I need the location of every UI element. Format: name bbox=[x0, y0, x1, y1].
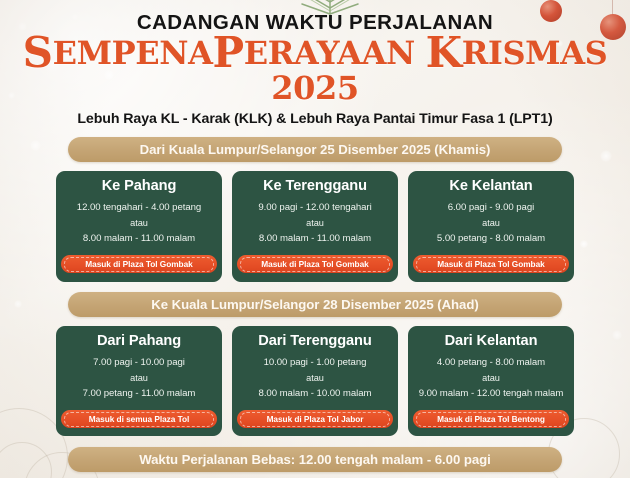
bokeh-dot bbox=[14, 300, 22, 308]
card-times: 4.00 petang - 8.00 malam atau 9.00 malam… bbox=[419, 355, 564, 401]
time-slot-1: 7.00 pagi - 10.00 pagi bbox=[83, 355, 196, 371]
time-slot-2: 5.00 petang - 8.00 malam bbox=[437, 231, 545, 247]
highway-subtitle: Lebuh Raya KL - Karak (KLK) & Lebuh Raya… bbox=[0, 111, 630, 127]
card-times: 12.00 tengahari - 4.00 petang atau 8.00 … bbox=[77, 200, 201, 246]
card-title: Dari Terengganu bbox=[258, 333, 371, 349]
page-title: CADANGAN WAKTU PERJALANAN bbox=[0, 0, 630, 35]
section-banner-outbound: Dari Kuala Lumpur/Selangor 25 Disember 2… bbox=[68, 137, 562, 162]
time-slot-2: 8.00 malam - 10.00 malam bbox=[259, 386, 372, 402]
time-slot-1: 4.00 petang - 8.00 malam bbox=[419, 355, 564, 371]
card-times: 9.00 pagi - 12.00 tengahari atau 8.00 ma… bbox=[258, 200, 371, 246]
toll-plaza-badge: Masuk di Plaza Tol Bentong bbox=[413, 410, 569, 428]
card-title: Dari Kelantan bbox=[445, 333, 538, 349]
card-row-outbound: Ke Pahang 12.00 tengahari - 4.00 petang … bbox=[56, 171, 574, 282]
time-slot-2: 9.00 malam - 12.00 tengah malam bbox=[419, 386, 564, 402]
time-slot-2: 8.00 malam - 11.00 malam bbox=[77, 231, 201, 247]
script-cap-p: P bbox=[213, 28, 244, 77]
time-slot-2: 7.00 petang - 11.00 malam bbox=[83, 386, 196, 402]
time-separator: atau bbox=[419, 371, 564, 386]
toll-plaza-label: Masuk di Plaza Tol Gombak bbox=[437, 259, 544, 269]
time-separator: atau bbox=[258, 216, 371, 231]
toll-plaza-badge: Masuk di Plaza Tol Gombak bbox=[61, 255, 217, 273]
poster-header: CADANGAN WAKTU PERJALANAN SEMPENAPERAYAA… bbox=[0, 0, 630, 127]
time-separator: atau bbox=[83, 371, 196, 386]
page-subtitle-script: SEMPENAPERAYAAN KRISMAS 2025 bbox=[0, 36, 630, 105]
bokeh-dot bbox=[580, 240, 588, 248]
toll-plaza-badge: Masuk di semua Plaza Tol bbox=[61, 410, 217, 428]
bokeh-dot bbox=[612, 330, 622, 340]
script-word-perayaan: ERAYAAN bbox=[244, 34, 415, 72]
faint-circle-decoration bbox=[0, 442, 52, 478]
card-times: 10.00 pagi - 1.00 petang atau 8.00 malam… bbox=[259, 355, 372, 401]
time-slot-1: 12.00 tengahari - 4.00 petang bbox=[77, 200, 201, 216]
toll-plaza-badge: Masuk di Plaza Tol Jabor bbox=[237, 410, 393, 428]
time-slot-1: 10.00 pagi - 1.00 petang bbox=[259, 355, 372, 371]
toll-plaza-label: Masuk di Plaza Tol Gombak bbox=[85, 259, 192, 269]
time-slot-1: 6.00 pagi - 9.00 pagi bbox=[437, 200, 545, 216]
bokeh-dot bbox=[600, 150, 612, 162]
time-separator: atau bbox=[77, 216, 201, 231]
time-slot-2: 8.00 malam - 11.00 malam bbox=[258, 231, 371, 247]
card-title: Ke Pahang bbox=[102, 178, 177, 194]
toll-plaza-label: Masuk di semua Plaza Tol bbox=[89, 414, 190, 424]
time-slot-1: 9.00 pagi - 12.00 tengahari bbox=[258, 200, 371, 216]
card-title: Dari Pahang bbox=[97, 333, 181, 349]
card-times: 7.00 pagi - 10.00 pagi atau 7.00 petang … bbox=[83, 355, 196, 401]
section-banner-return: Ke Kuala Lumpur/Selangor 28 Disember 202… bbox=[68, 292, 562, 317]
toll-plaza-label: Masuk di Plaza Tol Gombak bbox=[261, 259, 368, 269]
destination-card: Ke Kelantan 6.00 pagi - 9.00 pagi atau 5… bbox=[408, 171, 574, 282]
toll-plaza-badge: Masuk di Plaza Tol Gombak bbox=[413, 255, 569, 273]
card-times: 6.00 pagi - 9.00 pagi atau 5.00 petang -… bbox=[437, 200, 545, 246]
toll-plaza-label: Masuk di Plaza Tol Jabor bbox=[267, 414, 364, 424]
script-cap-s: S bbox=[23, 28, 53, 77]
card-title: Ke Terengganu bbox=[263, 178, 367, 194]
origin-card: Dari Kelantan 4.00 petang - 8.00 malam a… bbox=[408, 326, 574, 436]
toll-plaza-label: Masuk di Plaza Tol Bentong bbox=[437, 414, 545, 424]
time-separator: atau bbox=[437, 216, 545, 231]
destination-card: Ke Pahang 12.00 tengahari - 4.00 petang … bbox=[56, 171, 222, 282]
bokeh-dot bbox=[30, 140, 41, 151]
origin-card: Dari Terengganu 10.00 pagi - 1.00 petang… bbox=[232, 326, 398, 436]
poster-canvas: CADANGAN WAKTU PERJALANAN SEMPENAPERAYAA… bbox=[0, 0, 630, 478]
toll-plaza-badge: Masuk di Plaza Tol Gombak bbox=[237, 255, 393, 273]
script-cap-k: K bbox=[426, 28, 462, 77]
origin-card: Dari Pahang 7.00 pagi - 10.00 pagi atau … bbox=[56, 326, 222, 436]
script-word-sempena: EMPENA bbox=[53, 34, 213, 72]
time-separator: atau bbox=[259, 371, 372, 386]
free-travel-banner: Waktu Perjalanan Bebas: 12.00 tengah mal… bbox=[68, 447, 562, 472]
card-title: Ke Kelantan bbox=[449, 178, 532, 194]
destination-card: Ke Terengganu 9.00 pagi - 12.00 tengahar… bbox=[232, 171, 398, 282]
card-row-return: Dari Pahang 7.00 pagi - 10.00 pagi atau … bbox=[56, 326, 574, 436]
